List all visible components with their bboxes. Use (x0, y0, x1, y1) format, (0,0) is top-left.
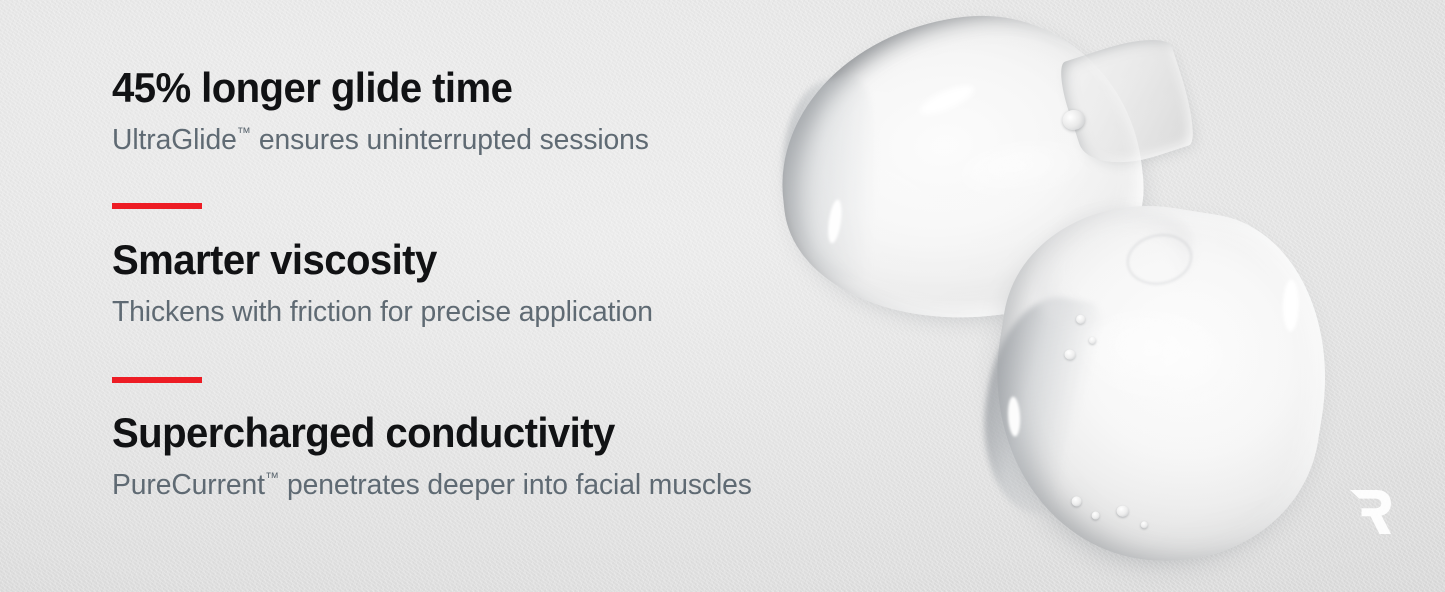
feature-headline: Supercharged conductivity (112, 411, 739, 455)
feature-headline: Smarter viscosity (112, 238, 642, 282)
feature-item-1: 45% longer glide time UltraGlide™ ensure… (112, 66, 663, 156)
feature-subline-text-tail: ensures uninterrupted sessions (251, 124, 649, 156)
feature-banner: 45% longer glide time UltraGlide™ ensure… (0, 0, 1445, 592)
trademark-symbol: ™ (237, 125, 251, 141)
trademark-symbol: ™ (265, 470, 279, 486)
feature-item-3: Supercharged conductivity PureCurrent™ p… (112, 411, 768, 501)
feature-headline: 45% longer glide time (112, 66, 638, 110)
feature-subline: PureCurrent™ penetrates deeper into faci… (112, 469, 752, 501)
feature-subline: UltraGlide™ ensures uninterrupted sessio… (112, 124, 649, 156)
feature-subline-text: UltraGlide (112, 124, 237, 156)
feature-subline-text-tail: penetrates deeper into facial muscles (279, 469, 752, 501)
feature-subline-text: Thickens with friction for precise appli… (112, 296, 653, 328)
divider-rule-1 (112, 203, 202, 209)
divider-rule-2 (112, 377, 202, 383)
feature-list: 45% longer glide time UltraGlide™ ensure… (112, 0, 932, 592)
feature-subline-text: PureCurrent (112, 469, 265, 501)
brand-logo-r-icon (1347, 488, 1393, 536)
feature-item-2: Smarter viscosity Thickens with friction… (112, 238, 667, 328)
feature-subline: Thickens with friction for precise appli… (112, 296, 653, 328)
